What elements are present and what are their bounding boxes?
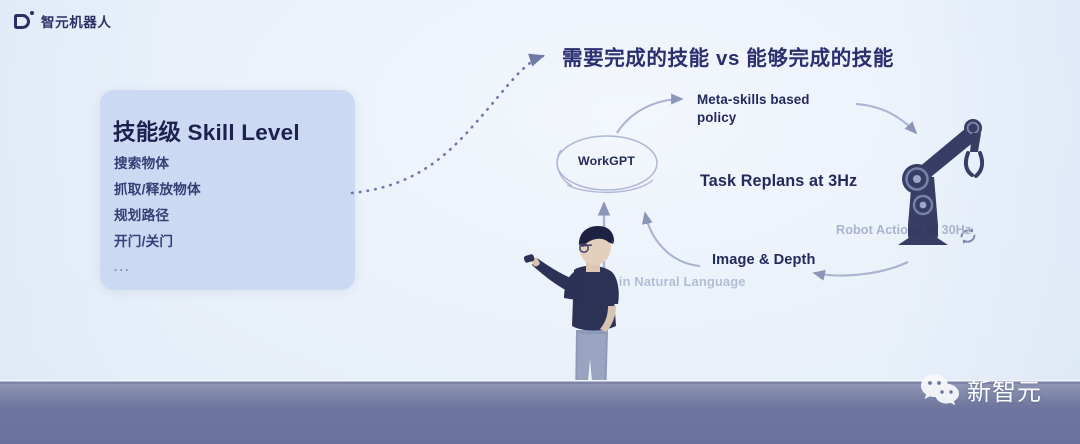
skill-level-card: 技能级 Skill Level 搜索物体 抓取/释放物体 规划路径 开门/关门 …	[100, 90, 355, 290]
label-task-replans: Task Replans at 3Hz	[700, 172, 857, 191]
robot-arm-icon	[886, 105, 986, 245]
label-image-depth: Image & Depth	[712, 251, 815, 271]
list-item: 开门/关门	[114, 235, 344, 249]
stage-floor-sheen	[0, 384, 1080, 406]
wechat-icon	[920, 373, 960, 407]
list-item: 抓取/释放物体	[114, 183, 344, 197]
page-title: 需要完成的技能 vs 能够完成的技能	[562, 41, 894, 71]
label-workgpt-node: WorkGPT	[578, 154, 635, 168]
list-item-ellipsis: ...	[114, 261, 344, 273]
brand-logo: 智元机器人	[14, 11, 112, 31]
label-meta-skills-policy: Meta-skills based policy	[697, 91, 847, 127]
skill-card-list: 搜索物体 抓取/释放物体 规划路径 开门/关门 ...	[114, 157, 344, 286]
skill-card-title: 技能级 Skill Level	[113, 115, 300, 147]
screenshot-root: 技能级 Skill Level 搜索物体 抓取/释放物体 规划路径 开门/关门 …	[0, 0, 1080, 444]
list-item: 规划路径	[114, 209, 344, 223]
watermark: 新智元	[920, 372, 1042, 407]
watermark-text: 新智元	[967, 372, 1042, 407]
list-item: 搜索物体	[114, 157, 344, 171]
brand-name: 智元机器人	[41, 11, 112, 31]
zhiyuan-d-logo-icon	[14, 12, 33, 31]
